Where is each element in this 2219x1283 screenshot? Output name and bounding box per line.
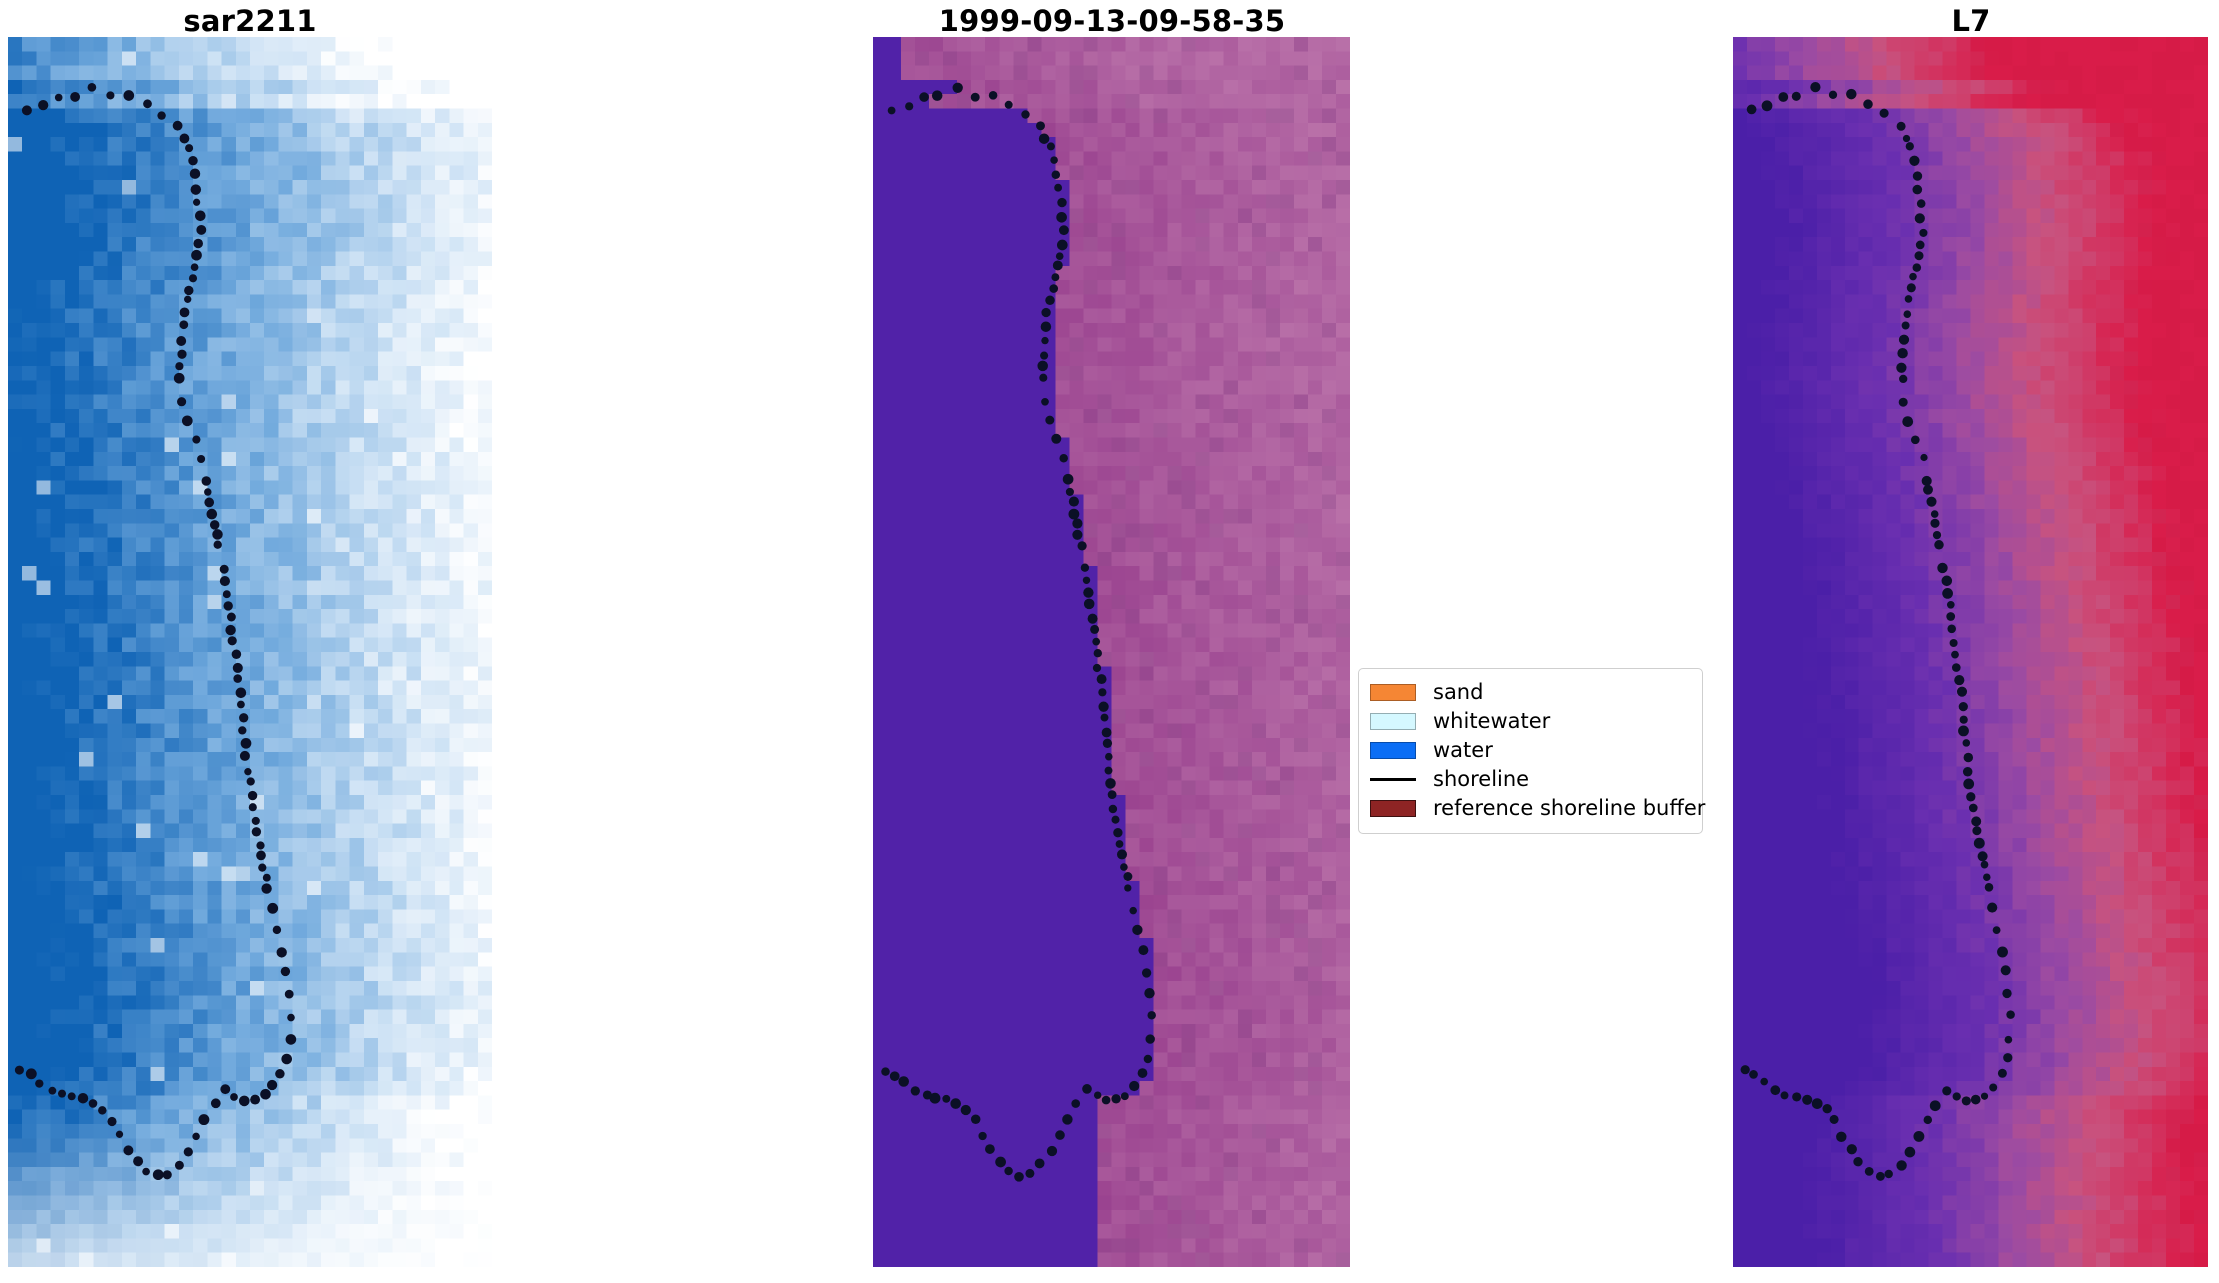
legend-row-reference-shoreline-buffer: reference shoreline buffer xyxy=(1370,794,1691,823)
panel-title-l7: L7 xyxy=(1771,4,2171,38)
legend-label: sand xyxy=(1433,682,1483,703)
l7-panel xyxy=(1733,37,2208,1267)
legend-swatch-sand xyxy=(1370,684,1416,701)
legend-label: whitewater xyxy=(1433,711,1550,732)
legend-swatch-whitewater xyxy=(1370,713,1416,730)
legend-label: reference shoreline buffer xyxy=(1433,798,1705,819)
panel-title-sar: sar2211 xyxy=(50,4,450,38)
legend-label: shoreline xyxy=(1433,769,1529,790)
legend-row-shoreline: shoreline xyxy=(1370,765,1691,794)
legend-swatch-reference-shoreline-buffer xyxy=(1370,800,1416,817)
legend-row-whitewater: whitewater xyxy=(1370,707,1691,736)
legend-row-sand: sand xyxy=(1370,678,1691,707)
sar-raster xyxy=(8,37,492,1267)
legend-swatch-shoreline xyxy=(1370,778,1416,781)
legend-swatch-water xyxy=(1370,742,1416,759)
panel-title-date: 1999-09-13-09-58-35 xyxy=(812,4,1412,38)
classified-raster xyxy=(873,37,1350,1267)
classified-panel xyxy=(873,37,1350,1267)
legend-row-water: water xyxy=(1370,736,1691,765)
l7-raster xyxy=(1733,37,2208,1267)
sar-panel xyxy=(8,37,492,1267)
legend-label: water xyxy=(1433,740,1493,761)
map-legend: sandwhitewaterwatershorelinereference sh… xyxy=(1358,668,1703,834)
